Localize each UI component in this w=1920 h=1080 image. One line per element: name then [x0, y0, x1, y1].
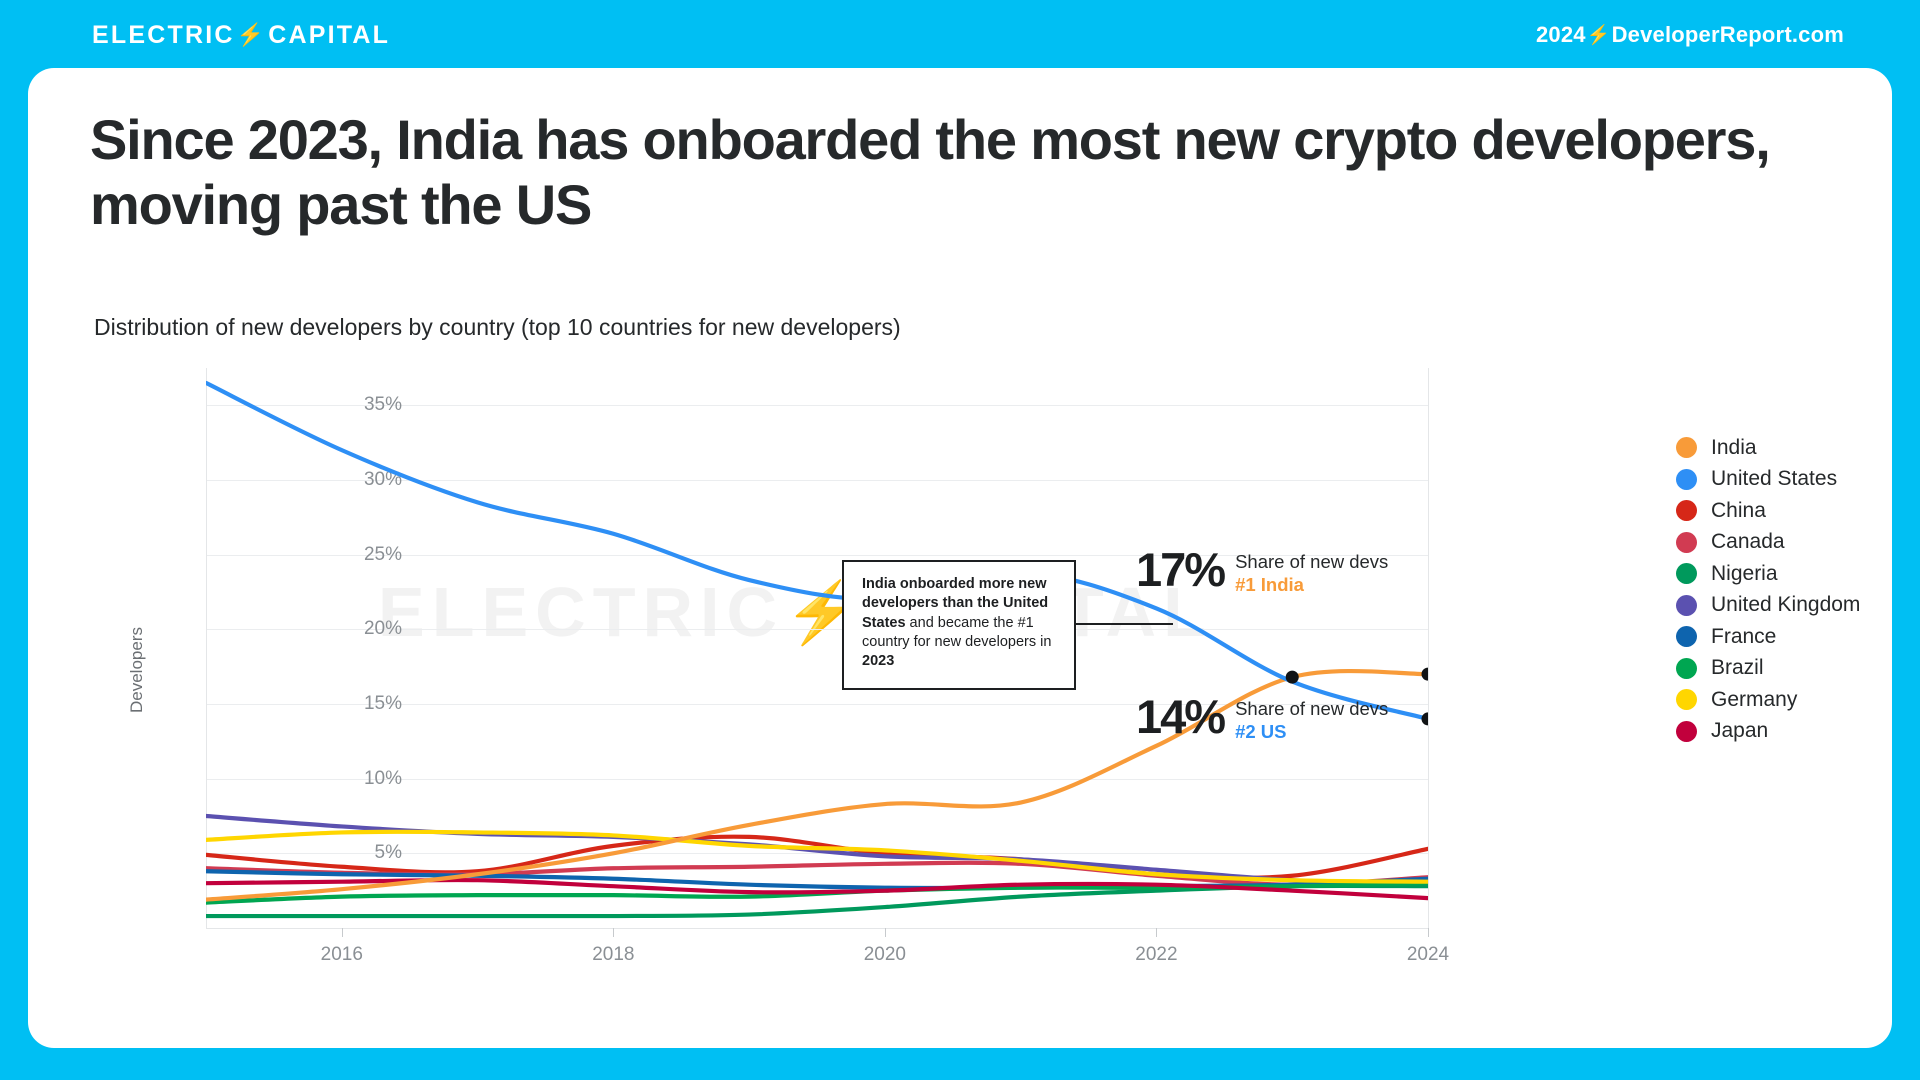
legend-color-dot-icon [1676, 532, 1697, 553]
x-axis-tick-mark [342, 928, 343, 937]
callout-bold-year: 2023 [862, 653, 894, 669]
legend-item-label: United States [1711, 467, 1837, 491]
x-axis-tick-mark [885, 928, 886, 937]
legend-item-label: Nigeria [1711, 562, 1778, 586]
legend-color-dot-icon [1676, 500, 1697, 521]
legend-item-label: United Kingdom [1711, 593, 1860, 617]
legend-item-germany[interactable]: Germany [1676, 688, 1860, 711]
legend-color-dot-icon [1676, 595, 1697, 616]
stat-value: 14% [1136, 695, 1224, 738]
legend-item-label: China [1711, 499, 1766, 523]
stat-caption: Share of new devs [1235, 551, 1388, 573]
lightning-bolt-icon: ⚡ [1587, 23, 1611, 47]
stat-caption: Share of new devs [1235, 698, 1388, 720]
x-axis-tick-mark [1428, 928, 1429, 937]
legend-color-dot-icon [1676, 563, 1697, 584]
legend-item-label: India [1711, 436, 1757, 460]
data-point-marker [1422, 712, 1429, 725]
legend-item-nigeria[interactable]: Nigeria [1676, 562, 1860, 585]
legend-item-brazil[interactable]: Brazil [1676, 657, 1860, 680]
legend-item-china[interactable]: China [1676, 499, 1860, 522]
content-card: Since 2023, India has onboarded the most… [28, 68, 1892, 1048]
legend-item-label: Canada [1711, 530, 1785, 554]
electric-capital-logo: ELECTRIC ⚡ CAPITAL [92, 21, 390, 50]
x-axis-tick-label: 2018 [592, 944, 634, 966]
page-title: Since 2023, India has onboarded the most… [90, 108, 1810, 238]
chart-subtitle: Distribution of new developers by countr… [94, 314, 901, 341]
logo-text-right: CAPITAL [268, 21, 390, 50]
developer-report-link[interactable]: 2024 ⚡ DeveloperReport.com [1536, 22, 1844, 48]
stat-callout-india: 17% Share of new devs #1 India [1136, 548, 1388, 596]
legend-color-dot-icon [1676, 721, 1697, 742]
legend-color-dot-icon [1676, 689, 1697, 710]
legend-item-canada[interactable]: Canada [1676, 531, 1860, 554]
annotation-callout: India onboarded more new developers than… [842, 560, 1076, 690]
data-point-marker [1286, 671, 1299, 684]
legend-item-label: France [1711, 625, 1776, 649]
stat-value: 17% [1136, 548, 1224, 591]
right-axis-line [1428, 368, 1429, 928]
stat-callout-us: 14% Share of new devs #2 US [1136, 695, 1388, 743]
page-root: ELECTRIC ⚡ CAPITAL 2024 ⚡ DeveloperRepor… [0, 0, 1920, 1080]
legend-color-dot-icon [1676, 437, 1697, 458]
legend-item-france[interactable]: France [1676, 625, 1860, 648]
legend-item-japan[interactable]: Japan [1676, 720, 1860, 743]
legend-item-label: Japan [1711, 719, 1768, 743]
stat-rank: #1 India [1235, 574, 1388, 596]
y-axis-label: Developers [127, 627, 147, 713]
x-axis-tick-mark [613, 928, 614, 937]
plot-area [206, 368, 1428, 928]
legend-item-label: Germany [1711, 688, 1797, 712]
stat-rank: #2 US [1235, 721, 1388, 743]
series-lines [206, 368, 1428, 928]
x-axis-tick-label: 2024 [1407, 944, 1449, 966]
x-axis-tick-label: 2022 [1135, 944, 1177, 966]
top-bar: ELECTRIC ⚡ CAPITAL 2024 ⚡ DeveloperRepor… [0, 0, 1920, 70]
callout-leader-line [1076, 623, 1173, 625]
chart-container: Developers ELECTRIC ⚡ CAPITAL 5%10%15%20… [88, 360, 1628, 980]
report-site: DeveloperReport.com [1612, 22, 1844, 48]
x-axis-tick-label: 2020 [864, 944, 906, 966]
legend-color-dot-icon [1676, 658, 1697, 679]
lightning-bolt-icon: ⚡ [237, 24, 267, 46]
legend-item-label: Brazil [1711, 656, 1764, 680]
legend-color-dot-icon [1676, 626, 1697, 647]
legend-color-dot-icon [1676, 469, 1697, 490]
x-axis-tick-mark [1156, 928, 1157, 937]
logo-text-left: ELECTRIC [92, 21, 235, 50]
x-axis-tick-label: 2016 [321, 944, 363, 966]
legend-item-india[interactable]: India [1676, 436, 1860, 459]
legend-item-united-kingdom[interactable]: United Kingdom [1676, 594, 1860, 617]
report-year: 2024 [1536, 22, 1586, 48]
chart-legend: IndiaUnited StatesChinaCanadaNigeriaUnit… [1676, 436, 1860, 743]
legend-item-united-states[interactable]: United States [1676, 468, 1860, 491]
x-axis-line [206, 928, 1428, 929]
data-point-marker [1422, 668, 1429, 681]
